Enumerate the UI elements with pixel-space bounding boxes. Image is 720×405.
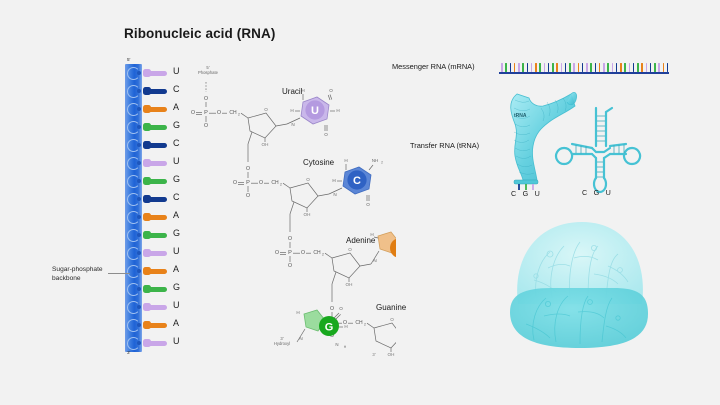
mrna-base-tick [624,63,626,72]
cloverleaf-anticodon: C G U [582,188,613,197]
svg-text:O: O [217,110,221,116]
svg-text:2: 2 [381,160,383,164]
backbone-phosphate-node [137,251,141,255]
mrna-base-tick [658,63,660,72]
nucleotide-letter: U [173,156,180,166]
backbone-phosphate-node [137,215,141,219]
mrna-base-tick [641,63,643,72]
mrna-base-tick [620,63,622,72]
mrna-base-tick [633,63,635,72]
svg-text:O: O [204,96,208,102]
nucleotide-letter: C [173,138,180,148]
trna-cloverleaf-diagram: C G U [552,104,648,200]
mrna-base-tick [612,63,614,72]
backbone-phosphate-node [137,161,141,165]
adenine-label: Adenine [346,236,375,245]
mrna-base-tick [599,63,601,72]
nucleotide-bar [144,179,167,184]
mrna-base-tick [522,63,524,72]
mrna-base-tick [518,63,520,72]
svg-text:H: H [344,345,347,349]
nucleotide-bar [144,125,167,130]
ribose-3: O OH [332,247,371,287]
nucleotide-bar [144,197,167,202]
nucleotide-bar [144,89,167,94]
svg-text:2: 2 [280,183,282,187]
mrna-base-tick [561,63,563,72]
nucleotide-letter: U [173,336,180,346]
svg-text:O: O [246,166,250,172]
backbone-phosphate-node [137,305,141,309]
svg-text:CH: CH [271,180,279,186]
backbone-callout-line1: Sugar-phosphate [52,265,103,274]
svg-text:H: H [336,108,339,113]
nucleotide-bar [144,287,167,292]
five-prime-marker: 5' [127,57,130,62]
nucleotide-bar [144,215,167,220]
svg-text:O: O [275,250,279,256]
svg-text:OH: OH [346,282,353,287]
svg-text:O: O [288,236,292,242]
mrna-backbone-line [499,72,669,74]
page-title: Ribonucleic acid (RNA) [124,26,275,41]
mrna-base-tick [582,63,584,72]
mrna-base-tick [586,63,588,72]
svg-text:N: N [335,342,338,347]
five-phosphate-line2: Phosphate [192,70,224,75]
svg-text:OH: OH [262,142,269,147]
mrna-base-tick [569,63,571,72]
rna-chemical-structure: O P O O O CH 2 O OH [186,66,396,361]
mrna-base-tick [501,63,503,72]
cytosine-letter: C [353,175,361,187]
phosphate-group-3: O P O O O CH 2 [275,214,332,269]
mrna-label: Messenger RNA (mRNA) [392,62,475,71]
svg-text:O: O [366,202,370,207]
mrna-base-tick [603,63,605,72]
svg-text:O: O [329,88,333,93]
svg-text:H: H [344,158,347,163]
svg-text:O: O [306,177,310,182]
guanine-label: Guanine [376,303,406,312]
svg-text:CH: CH [229,110,237,116]
backbone-phosphate-node [137,341,141,345]
nucleotide-bar [144,269,167,274]
backbone-phosphate-node [137,179,141,183]
mrna-base-tick [548,63,550,72]
ribose-1: O OH [248,107,287,147]
svg-text:H: H [290,108,293,113]
nucleotide-letter: U [173,246,180,256]
three-prime-marker: 3' [127,350,130,355]
cytosine-label: Cytosine [303,158,334,167]
mrna-base-tick [552,63,554,72]
nucleotide-letter: G [173,282,180,292]
mrna-base-tick [539,63,541,72]
backbone-phosphate-node [137,269,141,273]
backbone-callout-line2: backbone [52,274,103,283]
nucleotide-letter: A [173,318,179,328]
nucleotide-bar [144,71,167,76]
backbone-phosphate-node [137,107,141,111]
mrna-strand [499,60,669,76]
backbone-phosphate-node [137,71,141,75]
mrna-base-tick [607,63,609,72]
mrna-base-tick [637,63,639,72]
backbone-phosphate-node [137,197,141,201]
backbone-leader-line [108,273,130,274]
guanine-letter: G [325,321,334,333]
phosphate-group-2: O P O O O CH 2 [233,144,290,199]
svg-text:CH: CH [313,250,321,256]
backbone-phosphate-node [137,125,141,129]
mrna-base-tick [663,63,665,72]
svg-text:O: O [301,250,305,256]
ribosome-model [490,208,670,360]
svg-text:P: P [288,250,292,256]
svg-text:P: P [246,180,250,186]
mrna-base-tick [616,63,618,72]
three-hydroxyl-line2: Hydroxyl [266,341,298,346]
nucleotide-bar [144,323,167,328]
trna-label: Transfer RNA (tRNA) [410,141,479,150]
uracil-label: Uracil [282,87,302,96]
svg-text:O: O [288,263,292,269]
ribose-2: O OH [290,177,329,217]
backbone-phosphate-node [137,323,141,327]
three-prime-hydroxyl-label: 3' Hydroxyl [266,336,298,347]
nucleotide-letter: A [173,210,179,220]
svg-text:OH: OH [304,212,311,217]
svg-text:O: O [339,306,343,311]
mrna-base-tick [535,63,537,72]
svg-text:O: O [264,107,268,112]
mrna-base-tick [527,63,529,72]
nucleotide-bar [144,143,167,148]
nucleotide-bar [144,233,167,238]
svg-text:2: 2 [322,253,324,257]
mrna-base-tick [629,63,631,72]
svg-text:O: O [259,180,263,186]
svg-text:O: O [204,123,208,129]
mrna-base-tick [590,63,592,72]
nucleotide-letter: A [173,264,179,274]
nucleotide-letter: G [173,120,180,130]
nucleotide-bar [144,341,167,346]
nucleotide-letter: G [173,174,180,184]
svg-text:H: H [344,324,347,329]
mrna-base-tick [578,63,580,72]
nucleotide-bar [144,161,167,166]
mrna-base-tick [505,63,507,72]
cloverleaf-svg [552,104,648,200]
svg-text:O: O [246,193,250,199]
svg-text:O: O [348,247,352,252]
nucleotide-letter: U [173,300,180,310]
mrna-base-tick [595,63,597,72]
svg-text:O: O [191,110,195,116]
backbone-phosphate-node [137,287,141,291]
trna-3d-anticodon: C G U [511,189,542,198]
svg-text:P: P [204,110,208,116]
backbone-callout-label: Sugar-phosphate backbone [52,265,103,283]
mrna-base-tick [544,63,546,72]
svg-text:NH: NH [372,158,378,163]
nucleotide-bar [144,107,167,112]
mrna-base-tick [556,63,558,72]
rna-strand-diagram: 5' 3' UCAGCUGCAGUAGUAU [118,58,188,358]
svg-text:H: H [332,178,335,183]
mrna-base-tick [654,63,656,72]
mrna-base-tick [667,63,669,72]
backbone-phosphate-node [137,233,141,237]
nucleotide-bar [144,305,167,310]
svg-text:N: N [291,122,294,127]
nucleotide-letter: A [173,102,179,112]
nucleotide-letter: C [173,192,180,202]
svg-text:2: 2 [238,113,240,117]
five-prime-phosphate-label: 5' Phosphate [192,65,224,76]
mrna-base-tick [510,63,512,72]
backbone-phosphate-node [137,89,141,93]
nucleotide-letter: G [173,228,180,238]
svg-text:O: O [324,132,328,137]
nucleotide-letter: C [173,84,180,94]
mrna-base-tick [531,63,533,72]
mrna-base-tick [514,63,516,72]
phosphate-group-1: O P O O O CH 2 [191,82,248,129]
svg-text:N: N [333,192,336,197]
mrna-base-tick [650,63,652,72]
backbone-phosphate-node [137,143,141,147]
trna-model-tag: tRNA [514,113,527,119]
uracil-letter: U [311,105,319,117]
svg-text:O: O [233,180,237,186]
mrna-base-tick [646,63,648,72]
svg-text:H: H [296,310,299,315]
ribosome-svg [490,208,670,360]
mrna-base-tick [573,63,575,72]
nucleotide-letter: U [173,66,180,76]
nucleotide-bar [144,251,167,256]
mrna-base-tick [565,63,567,72]
